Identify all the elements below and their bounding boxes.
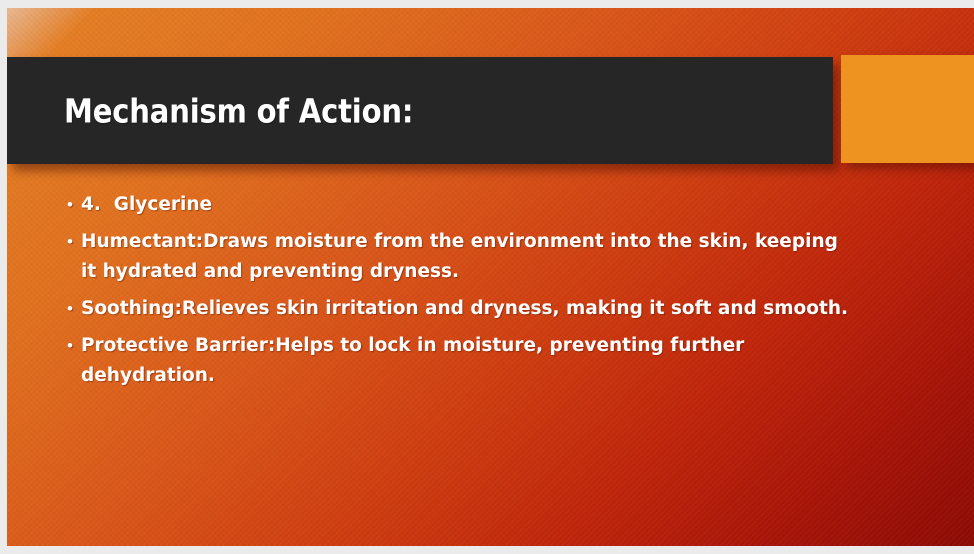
accent-square-decoration [841, 55, 974, 163]
slide-body: • 4. Glycerine • Humectant:Draws moistur… [65, 190, 855, 398]
bullet-point-icon: • [65, 331, 81, 361]
page-title: Mechanism of Action: [64, 91, 461, 130]
list-item: • Humectant:Draws moisture from the envi… [65, 227, 855, 287]
list-item-label: Soothing:Relieves skin irritation and dr… [81, 294, 855, 324]
list-item: • 4. Glycerine [65, 190, 855, 220]
bullet-point-icon: • [65, 190, 81, 220]
list-item-label: 4. Glycerine [81, 190, 855, 220]
list-item-label: Humectant:Draws moisture from the enviro… [81, 227, 855, 287]
slide-canvas: Mechanism of Action: • 4. Glycerine • Hu… [7, 8, 974, 546]
list-item: • Soothing:Relieves skin irritation and … [65, 294, 855, 324]
list-item: • Protective Barrier:Helps to lock in mo… [65, 331, 855, 391]
bullet-point-icon: • [65, 294, 81, 324]
bullet-point-icon: • [65, 227, 81, 257]
page-title-label: Mechanism of Action: [64, 91, 413, 130]
list-item-label: Protective Barrier:Helps to lock in mois… [81, 331, 855, 391]
title-banner: Mechanism of Action: [7, 57, 833, 164]
